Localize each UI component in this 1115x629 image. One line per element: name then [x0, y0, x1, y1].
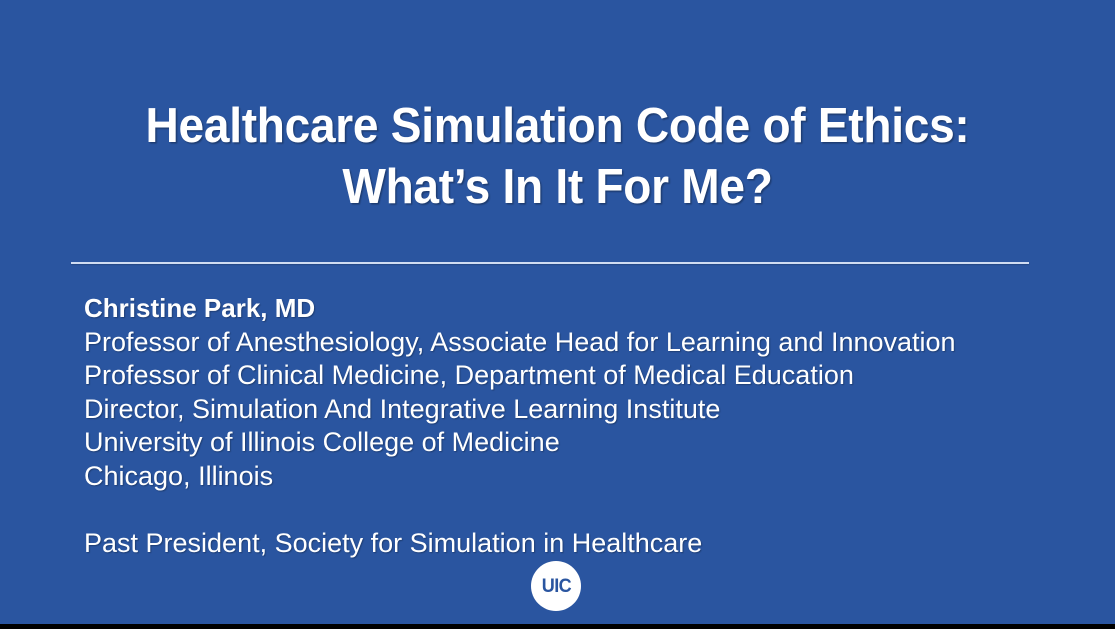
slide-title-line-2: What’s In It For Me?	[33, 157, 1081, 218]
title-divider	[71, 262, 1029, 264]
uic-logo: UIC	[531, 561, 581, 611]
presenter-name: Christine Park, MD	[84, 292, 1044, 326]
presenter-title-line-3: Director, Simulation And Integrative Lea…	[84, 393, 1044, 427]
presenter-location: Chicago, Illinois	[84, 460, 1044, 494]
presenter-credits: Christine Park, MD Professor of Anesthes…	[84, 292, 1044, 560]
credits-spacer	[84, 493, 1044, 527]
slide-title: Healthcare Simulation Code of Ethics: Wh…	[0, 96, 1115, 218]
presentation-slide: Healthcare Simulation Code of Ethics: Wh…	[0, 0, 1115, 629]
presenter-title-line-2: Professor of Clinical Medicine, Departme…	[84, 359, 1044, 393]
presenter-title-line-1: Professor of Anesthesiology, Associate H…	[84, 326, 1044, 360]
uic-logo-text: UIC	[541, 577, 570, 596]
slide-title-line-1: Healthcare Simulation Code of Ethics:	[33, 96, 1081, 157]
presenter-affiliation: Past President, Society for Simulation i…	[84, 527, 1044, 561]
letterbox-bar-bottom	[0, 624, 1115, 629]
presenter-institution: University of Illinois College of Medici…	[84, 426, 1044, 460]
